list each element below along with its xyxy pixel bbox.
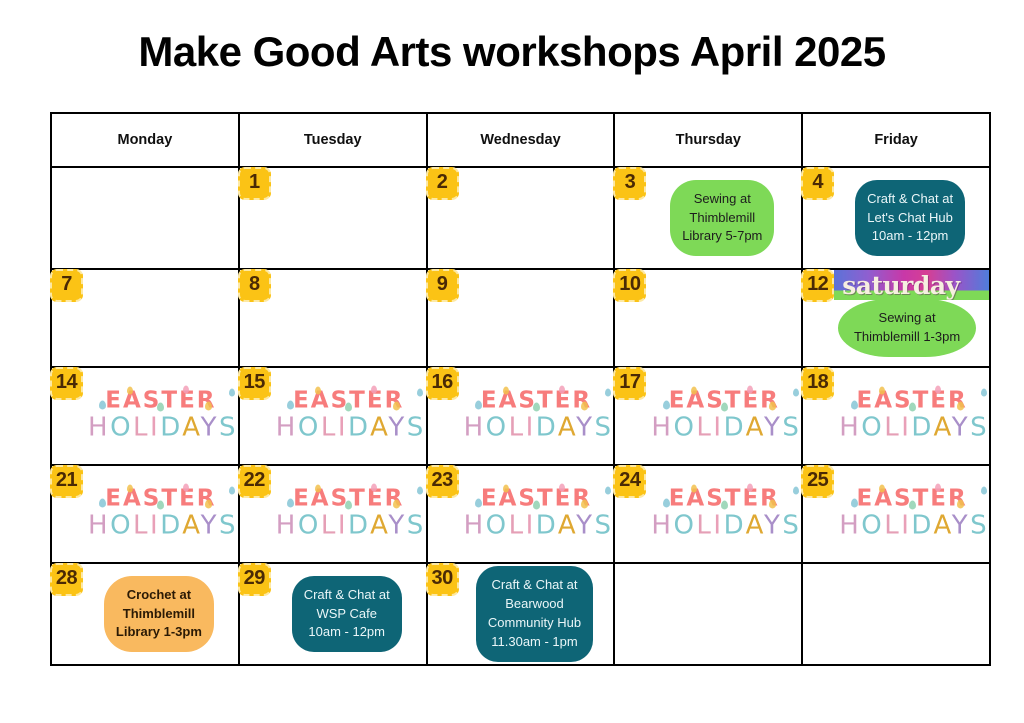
event-line: Sewing at xyxy=(694,191,751,206)
calendar-week-row: 28Crochet atThimblemillLibrary 1-3pm29Cr… xyxy=(51,563,990,665)
event-line: WSP Cafe xyxy=(316,606,376,621)
calendar-day-cell[interactable]: 14EASTERHOLIDAYS xyxy=(51,367,239,465)
easter-egg-icon xyxy=(229,388,235,396)
calendar-day-cell[interactable]: 24EASTERHOLIDAYS xyxy=(614,465,802,563)
easter-word: EASTER xyxy=(857,486,968,510)
easter-egg-icon xyxy=(935,483,941,491)
easter-word: EASTER xyxy=(105,486,216,510)
calendar-day-cell[interactable]: 10 xyxy=(614,269,802,367)
event-line: Library 1-3pm xyxy=(116,624,202,639)
easter-egg-icon xyxy=(879,484,885,492)
event-line: Crochet at xyxy=(127,587,191,602)
easter-egg-icon xyxy=(99,498,106,507)
easter-holidays-graphic: EASTERHOLIDAYS xyxy=(88,388,234,443)
calendar-empty-cell[interactable] xyxy=(802,563,990,665)
easter-holidays-graphic: EASTERHOLIDAYS xyxy=(839,486,985,541)
calendar-empty-cell[interactable] xyxy=(51,167,239,269)
event-line: Craft & Chat at xyxy=(867,191,953,206)
easter-egg-icon xyxy=(909,402,916,411)
easter-egg-icon xyxy=(533,402,540,411)
date-badge: 7 xyxy=(50,269,83,302)
easter-egg-icon xyxy=(581,401,588,410)
easter-egg-icon xyxy=(393,499,400,508)
calendar-week-row: 21EASTERHOLIDAYS22EASTERHOLIDAYS23EASTER… xyxy=(51,465,990,563)
easter-egg-icon xyxy=(127,484,133,492)
calendar-header-row: Monday Tuesday Wednesday Thursday Friday xyxy=(51,113,990,167)
date-badge: 3 xyxy=(613,167,646,200)
easter-egg-icon xyxy=(691,386,697,394)
calendar-week-row: 7891012saturdaySewing atThimblemill 1-3p… xyxy=(51,269,990,367)
weekday-header-thursday: Thursday xyxy=(614,113,802,167)
event-line: Thimblemill 1-3pm xyxy=(854,329,960,344)
easter-egg-icon xyxy=(315,386,321,394)
date-badge: 2 xyxy=(426,167,459,200)
calendar-day-cell[interactable]: 4Craft & Chat atLet's Chat Hub10am - 12p… xyxy=(802,167,990,269)
event-pill[interactable]: Sewing atThimblemill 1-3pm xyxy=(838,299,976,357)
calendar-day-cell[interactable]: 3Sewing atThimblemillLibrary 5-7pm xyxy=(614,167,802,269)
event-line: Thimblemill xyxy=(123,606,195,621)
easter-egg-icon xyxy=(559,483,565,491)
easter-egg-icon xyxy=(99,400,106,409)
holidays-word: HOLIDAYS xyxy=(464,512,610,542)
calendar-day-cell[interactable]: 16EASTERHOLIDAYS xyxy=(427,367,615,465)
easter-egg-icon xyxy=(503,484,509,492)
date-badge: 28 xyxy=(50,563,83,596)
calendar-day-cell[interactable]: 18EASTERHOLIDAYS xyxy=(802,367,990,465)
easter-holidays-graphic: EASTERHOLIDAYS xyxy=(651,486,797,541)
easter-word: EASTER xyxy=(105,388,216,412)
day-content: Craft & Chat atBearwoodCommunity Hub11.3… xyxy=(460,564,610,664)
easter-egg-icon xyxy=(935,385,941,393)
day-content: Sewing atThimblemill 1-3pm xyxy=(831,292,983,364)
date-badge: 15 xyxy=(238,367,271,400)
calendar-day-cell[interactable]: 17EASTERHOLIDAYS xyxy=(614,367,802,465)
easter-holidays-graphic: EASTERHOLIDAYS xyxy=(88,486,234,541)
calendar-day-cell[interactable]: 30Craft & Chat atBearwoodCommunity Hub11… xyxy=(427,563,615,665)
holidays-word: HOLIDAYS xyxy=(839,512,985,542)
easter-egg-icon xyxy=(183,385,189,393)
event-line: 11.30am - 1pm xyxy=(491,634,577,649)
calendar-page: Make Good Arts workshops April 2025 Mond… xyxy=(0,0,1024,723)
easter-egg-icon xyxy=(605,486,611,494)
easter-egg-icon xyxy=(205,499,212,508)
easter-holidays-graphic: EASTERHOLIDAYS xyxy=(464,388,610,443)
easter-holidays-graphic: EASTERHOLIDAYS xyxy=(464,486,610,541)
date-badge: 4 xyxy=(801,167,834,200)
easter-word: EASTER xyxy=(481,388,592,412)
easter-egg-icon xyxy=(851,400,858,409)
easter-egg-icon xyxy=(345,500,352,509)
easter-egg-icon xyxy=(747,483,753,491)
calendar-day-cell[interactable]: 1 xyxy=(239,167,427,269)
holidays-word: HOLIDAYS xyxy=(276,414,422,444)
event-line: Sewing at xyxy=(879,310,936,325)
easter-egg-icon xyxy=(721,402,728,411)
date-badge: 14 xyxy=(50,367,83,400)
date-badge: 24 xyxy=(613,465,646,498)
date-badge: 12 xyxy=(801,269,834,302)
easter-egg-icon xyxy=(721,500,728,509)
date-badge: 21 xyxy=(50,465,83,498)
easter-egg-icon xyxy=(691,484,697,492)
easter-word: EASTER xyxy=(669,388,780,412)
calendar-day-cell[interactable]: 28Crochet atThimblemillLibrary 1-3pm xyxy=(51,563,239,665)
holidays-word: HOLIDAYS xyxy=(88,414,234,444)
easter-egg-icon xyxy=(769,401,776,410)
easter-egg-icon xyxy=(475,400,482,409)
easter-egg-icon xyxy=(605,388,611,396)
easter-word: EASTER xyxy=(669,486,780,510)
easter-egg-icon xyxy=(851,498,858,507)
easter-holidays-graphic: EASTERHOLIDAYS xyxy=(839,388,985,443)
calendar-day-cell[interactable]: 8 xyxy=(239,269,427,367)
easter-egg-icon xyxy=(157,402,164,411)
easter-egg-icon xyxy=(747,385,753,393)
event-line: 10am - 12pm xyxy=(872,228,949,243)
easter-egg-icon xyxy=(957,499,964,508)
easter-word: EASTER xyxy=(293,388,404,412)
holidays-word: HOLIDAYS xyxy=(464,414,610,444)
easter-egg-icon xyxy=(229,486,235,494)
date-badge: 9 xyxy=(426,269,459,302)
calendar-day-cell[interactable]: 22EASTERHOLIDAYS xyxy=(239,465,427,563)
easter-word: EASTER xyxy=(857,388,968,412)
easter-holidays-graphic: EASTERHOLIDAYS xyxy=(651,388,797,443)
event-line: 10am - 12pm xyxy=(308,624,385,639)
easter-egg-icon xyxy=(793,486,799,494)
easter-egg-icon xyxy=(157,500,164,509)
event-line: Craft & Chat at xyxy=(304,587,390,602)
easter-egg-icon xyxy=(371,483,377,491)
date-badge: 22 xyxy=(238,465,271,498)
calendar-day-cell[interactable]: 2 xyxy=(427,167,615,269)
event-line: Thimblemill xyxy=(689,210,755,225)
weekday-header-friday: Friday xyxy=(802,113,990,167)
calendar-day-cell[interactable]: 29Craft & Chat atWSP Cafe10am - 12pm xyxy=(239,563,427,665)
calendar-day-cell[interactable]: 7 xyxy=(51,269,239,367)
event-pill[interactable]: Craft & Chat atLet's Chat Hub10am - 12pm xyxy=(855,180,965,257)
calendar-day-cell[interactable]: 15EASTERHOLIDAYS xyxy=(239,367,427,465)
easter-egg-icon xyxy=(315,484,321,492)
event-pill[interactable]: Sewing atThimblemillLibrary 5-7pm xyxy=(670,180,774,257)
calendar-day-cell[interactable]: 21EASTERHOLIDAYS xyxy=(51,465,239,563)
easter-egg-icon xyxy=(581,499,588,508)
calendar-grid: Monday Tuesday Wednesday Thursday Friday… xyxy=(50,112,991,666)
calendar-body: 123Sewing atThimblemillLibrary 5-7pm4Cra… xyxy=(51,167,990,665)
easter-egg-icon xyxy=(559,385,565,393)
weekday-header-tuesday: Tuesday xyxy=(239,113,427,167)
event-line: Library 5-7pm xyxy=(682,228,762,243)
easter-egg-icon xyxy=(663,498,670,507)
holidays-word: HOLIDAYS xyxy=(651,512,797,542)
date-badge: 23 xyxy=(426,465,459,498)
page-title: Make Good Arts workshops April 2025 xyxy=(0,28,1024,76)
easter-word: EASTER xyxy=(293,486,404,510)
day-content: Craft & Chat atWSP Cafe10am - 12pm xyxy=(272,564,422,664)
easter-egg-icon xyxy=(417,486,423,494)
weekday-header-wednesday: Wednesday xyxy=(427,113,615,167)
event-pill[interactable]: Craft & Chat atWSP Cafe10am - 12pm xyxy=(292,576,402,653)
easter-egg-icon xyxy=(533,500,540,509)
holidays-word: HOLIDAYS xyxy=(651,414,797,444)
event-pill[interactable]: Craft & Chat atBearwoodCommunity Hub11.3… xyxy=(476,566,593,661)
easter-word: EASTER xyxy=(481,486,592,510)
easter-egg-icon xyxy=(503,386,509,394)
day-content: Crochet atThimblemillLibrary 1-3pm xyxy=(84,564,234,664)
event-pill[interactable]: Crochet atThimblemillLibrary 1-3pm xyxy=(104,576,214,653)
easter-egg-icon xyxy=(205,401,212,410)
easter-egg-icon xyxy=(287,400,294,409)
calendar-week-row: 14EASTERHOLIDAYS15EASTERHOLIDAYS16EASTER… xyxy=(51,367,990,465)
day-content: Sewing atThimblemillLibrary 5-7pm xyxy=(647,168,797,268)
calendar-day-cell[interactable]: 9 xyxy=(427,269,615,367)
holidays-word: HOLIDAYS xyxy=(276,512,422,542)
easter-egg-icon xyxy=(371,385,377,393)
date-badge: 29 xyxy=(238,563,271,596)
date-badge: 17 xyxy=(613,367,646,400)
holidays-word: HOLIDAYS xyxy=(839,414,985,444)
date-badge: 18 xyxy=(801,367,834,400)
calendar-week-row: 123Sewing atThimblemillLibrary 5-7pm4Cra… xyxy=(51,167,990,269)
date-badge: 25 xyxy=(801,465,834,498)
event-line: Bearwood xyxy=(505,596,564,611)
easter-egg-icon xyxy=(475,498,482,507)
easter-egg-icon xyxy=(345,402,352,411)
date-badge: 1 xyxy=(238,167,271,200)
day-content: Craft & Chat atLet's Chat Hub10am - 12pm xyxy=(835,168,985,268)
easter-egg-icon xyxy=(909,500,916,509)
event-line: Craft & Chat at xyxy=(492,577,578,592)
easter-egg-icon xyxy=(127,386,133,394)
easter-egg-icon xyxy=(981,486,987,494)
date-badge: 16 xyxy=(426,367,459,400)
calendar-day-cell[interactable]: 23EASTERHOLIDAYS xyxy=(427,465,615,563)
date-badge: 8 xyxy=(238,269,271,302)
event-line: Let's Chat Hub xyxy=(867,210,953,225)
easter-egg-icon xyxy=(981,388,987,396)
calendar-day-cell[interactable]: 12saturdaySewing atThimblemill 1-3pm xyxy=(802,269,990,367)
holidays-word: HOLIDAYS xyxy=(88,512,234,542)
calendar-day-cell[interactable]: 25EASTERHOLIDAYS xyxy=(802,465,990,563)
easter-egg-icon xyxy=(183,483,189,491)
easter-egg-icon xyxy=(393,401,400,410)
weekday-header-monday: Monday xyxy=(51,113,239,167)
easter-egg-icon xyxy=(957,401,964,410)
date-badge: 10 xyxy=(613,269,646,302)
date-badge: 30 xyxy=(426,563,459,596)
easter-egg-icon xyxy=(769,499,776,508)
easter-holidays-graphic: EASTERHOLIDAYS xyxy=(276,388,422,443)
easter-egg-icon xyxy=(879,386,885,394)
easter-egg-icon xyxy=(417,388,423,396)
easter-egg-icon xyxy=(663,400,670,409)
easter-egg-icon xyxy=(793,388,799,396)
easter-holidays-graphic: EASTERHOLIDAYS xyxy=(276,486,422,541)
event-line: Community Hub xyxy=(488,615,581,630)
calendar-empty-cell[interactable] xyxy=(614,563,802,665)
easter-egg-icon xyxy=(287,498,294,507)
